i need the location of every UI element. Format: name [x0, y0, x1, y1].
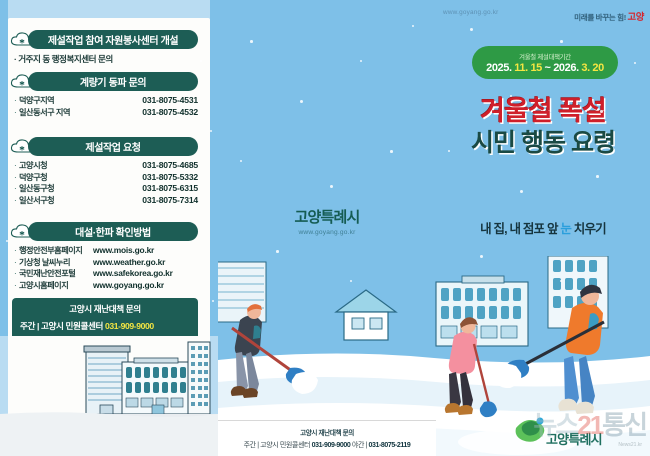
contact-value: 031-8075-4532 [142, 107, 200, 119]
snowflake [200, 60, 202, 62]
start-date: 11. 15 [514, 62, 542, 74]
start-year: 2025. [486, 62, 512, 74]
contact-label: 일산동구청 [19, 183, 54, 195]
poster-title-line1: 겨울철 폭설 [436, 96, 650, 126]
section-title: 제설작업 요청 [85, 139, 140, 154]
website-row: · 고양시홈페이지 www.goyang.go.kr [14, 280, 200, 292]
snowflake [596, 175, 599, 178]
poster-title-block: 겨울철 폭설 시민 행동 요령 [436, 96, 650, 158]
slogan-city-mark: 고양 [628, 11, 644, 22]
website-url[interactable]: www.weather.go.kr [93, 257, 167, 269]
center-brand-block: 고양특례시 www.goyang.go.kr [218, 206, 436, 236]
contact-row: · 일산동서구 지역 031-8075-4532 [14, 107, 200, 119]
snowflake [300, 100, 303, 103]
cityscape-illustration [0, 336, 218, 456]
website-label: 기상청 날씨누리 [19, 257, 93, 269]
section-header: 제설작업 참여 자원봉사센터 개설 [10, 30, 200, 49]
footer-day-number: 031-909-9000 [312, 442, 351, 449]
footer-night-number: 031-8075-2119 [369, 442, 411, 449]
footer-day-label: 주간 | 고양시 민원콜센터 [244, 442, 310, 449]
contact-value: 031-8075-5332 [142, 172, 200, 184]
section-weather-check: 대설·한파 확인방법 · 행정안전부홈페이지 www.mois.go.kr · … [10, 222, 200, 291]
snowflake [412, 25, 414, 27]
footer-title: 고양시 재난대책 문의 [300, 427, 354, 437]
section-volunteer-center: 제설작업 참여 자원봉사센터 개설 · 거주지 동 행정복지센터 문의 [10, 30, 200, 65]
snowflake [560, 40, 563, 43]
snowflake [360, 60, 362, 62]
section-title: 제설작업 참여 자원봉사센터 개설 [48, 32, 178, 47]
snowflake [634, 62, 636, 64]
snowflake [600, 110, 603, 113]
slogan-text: 미래를 바꾸는 힘! [574, 13, 626, 22]
section-header: 제설작업 요청 [10, 137, 200, 156]
subtitle-suffix: 치우기 [574, 222, 606, 236]
snowflake [470, 28, 473, 31]
website-url[interactable]: www.goyang.go.kr [93, 280, 166, 292]
subtitle-snow-word: 눈 [560, 222, 571, 236]
contact-row: · 덕양구지역 031-8075-4531 [14, 95, 200, 107]
contact-label: 덕양구청 [19, 172, 47, 184]
snowflake [350, 280, 352, 282]
contact-day-number: 031-909-9000 [105, 321, 154, 331]
section-header: 대설·한파 확인방법 [10, 222, 200, 241]
city-brand-url[interactable]: www.goyang.go.kr [218, 229, 436, 236]
date-badge-range: 2025. 11. 15 ~ 2026. 3. 20 [486, 62, 604, 74]
section-title-pill: 대설·한파 확인방법 [28, 222, 198, 241]
contact-row: · 덕양구청 031-8075-5332 [14, 172, 200, 184]
building-center [436, 276, 528, 346]
poster-subtitle: 내 집, 내 점포 앞 눈 치우기 [436, 218, 650, 237]
snowflake [448, 150, 450, 152]
contact-box-day: 주간 | 고양시 민원콜센터 031-909-9000 [20, 320, 190, 332]
end-year: 2026. [553, 62, 579, 74]
watermark-subtext: News21.kr [618, 442, 642, 448]
footer-contact-bar: 고양시 재난대책 문의 주간 | 고양시 민원콜센터 031-909-9000 … [218, 420, 436, 456]
snowflake [390, 150, 393, 153]
date-badge-caption: 겨울철 제설대책기간 [519, 52, 571, 61]
contact-row: · 고양시청 031-8075-4685 [14, 160, 200, 172]
snowflake [6, 240, 8, 242]
section-title-pill: 제설작업 참여 자원봉사센터 개설 [28, 30, 198, 49]
contact-label: 덕양구지역 [19, 95, 54, 107]
poster-title-line2: 시민 행동 요령 [436, 128, 650, 158]
section-title: 계량기 동파 문의 [80, 74, 146, 89]
contact-row: · 일산서구청 031-8075-7314 [14, 195, 200, 207]
snowflake [480, 255, 483, 258]
city-slogan: 미래를 바꾸는 힘! 고양 [574, 9, 644, 23]
contact-label: 일산동서구 지역 [19, 107, 70, 119]
snowflake [250, 40, 253, 43]
section-snow-removal-request: 제설작업 요청 · 고양시청 031-8075-4685 · 덕양구청 031-… [10, 137, 200, 206]
section-title-pill: 계량기 동파 문의 [28, 72, 198, 91]
header-website-url[interactable]: www.goyang.go.kr [443, 9, 498, 16]
contact-value: 031-8075-4531 [142, 95, 200, 107]
section-title-pill: 제설작업 요청 [28, 137, 198, 156]
contact-rows: · 고양시청 031-8075-4685 · 덕양구청 031-8075-533… [10, 160, 200, 206]
city-brand-name: 고양특례시 [218, 206, 436, 227]
snowflake [520, 190, 523, 193]
website-label: 고양시홈페이지 [19, 280, 93, 292]
section-meter-freeze: 계량기 동파 문의 · 덕양구지역 031-8075-4531 · 일산동서구 … [10, 72, 200, 118]
website-label: 국민재난안전포털 [19, 268, 93, 280]
contact-label: 일산서구청 [19, 195, 54, 207]
website-url[interactable]: www.mois.go.kr [93, 245, 156, 257]
contact-value: 031-8075-4685 [142, 160, 200, 172]
contact-value: 031-8075-6315 [142, 183, 200, 195]
snowflake [330, 185, 333, 188]
end-date: 3. 20 [581, 62, 603, 74]
contact-rows: · 덕양구지역 031-8075-4531 · 일산동서구 지역 031-807… [10, 95, 200, 118]
section-header: 계량기 동파 문의 [10, 72, 200, 91]
city-logo-name: 고양특례시 [546, 429, 602, 448]
footer-contact-line: 주간 | 고양시 민원콜센터 031-909-9000 야간 | 031-807… [244, 440, 411, 450]
panel-left: 제설작업 참여 자원봉사센터 개설 · 거주지 동 행정복지센터 문의 계량기 … [0, 0, 218, 456]
brochure-poster: 제설작업 참여 자원봉사센터 개설 · 거주지 동 행정복지센터 문의 계량기 … [0, 0, 650, 456]
contact-value: 031-8075-7314 [142, 195, 200, 207]
website-rows: · 행정안전부홈페이지 www.mois.go.kr · 기상청 날씨누리 ww… [10, 245, 200, 291]
contact-row: · 일산동구청 031-8075-6315 [14, 183, 200, 195]
section-title: 대설·한파 확인방법 [75, 224, 151, 239]
subtitle-prefix: 내 집, 내 점포 앞 [480, 222, 558, 236]
date-period-badge: 겨울철 제설대책기간 2025. 11. 15 ~ 2026. 3. 20 [472, 46, 618, 79]
footer-night-label: 야간 | [352, 442, 367, 449]
website-row: · 기상청 날씨누리 www.weather.go.kr [14, 257, 200, 269]
section-note: · 거주지 동 행정복지센터 문의 [10, 53, 200, 65]
website-label: 행정안전부홈페이지 [19, 245, 93, 257]
website-url[interactable]: www.safekorea.go.kr [93, 268, 175, 280]
tilde: ~ [545, 62, 551, 74]
snowflake [276, 250, 279, 253]
snowflake [240, 160, 242, 162]
snowflake [212, 300, 214, 302]
website-row: · 국민재난안전포털 www.safekorea.go.kr [14, 268, 200, 280]
website-row: · 행정안전부홈페이지 www.mois.go.kr [14, 245, 200, 257]
snowflake [210, 130, 212, 132]
snowflake [510, 95, 512, 97]
contact-box-title: 고양시 재난대책 문의 [20, 303, 190, 315]
contact-label: 고양시청 [19, 160, 47, 172]
snowflake [560, 280, 562, 282]
contact-day-label: 주간 | 고양시 민원콜센터 [20, 321, 103, 331]
